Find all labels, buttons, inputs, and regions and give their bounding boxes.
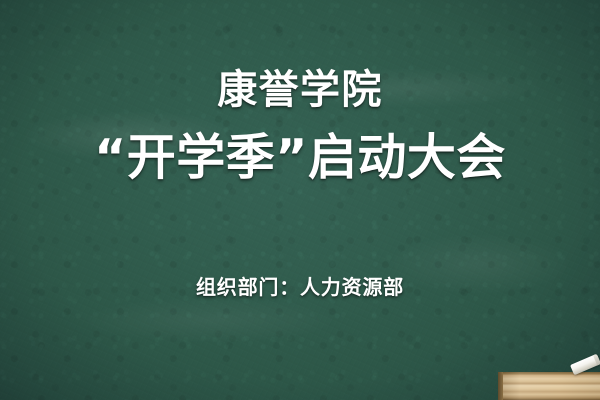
chalk-ledge-end-cap <box>498 372 503 400</box>
slide-title-line-2: “开学季”启动大会 <box>0 133 600 182</box>
chalk-ledge <box>498 372 600 400</box>
chalkboard-slide: 康誉学院 “开学季”启动大会 组织部门：人力资源部 <box>0 0 600 400</box>
slide-content: 康誉学院 “开学季”启动大会 组织部门：人力资源部 <box>0 0 600 400</box>
slide-subtitle: 组织部门：人力资源部 <box>0 277 600 297</box>
chalk-ledge-sheen <box>498 372 600 400</box>
slide-title-line-1: 康誉学院 <box>0 70 600 110</box>
